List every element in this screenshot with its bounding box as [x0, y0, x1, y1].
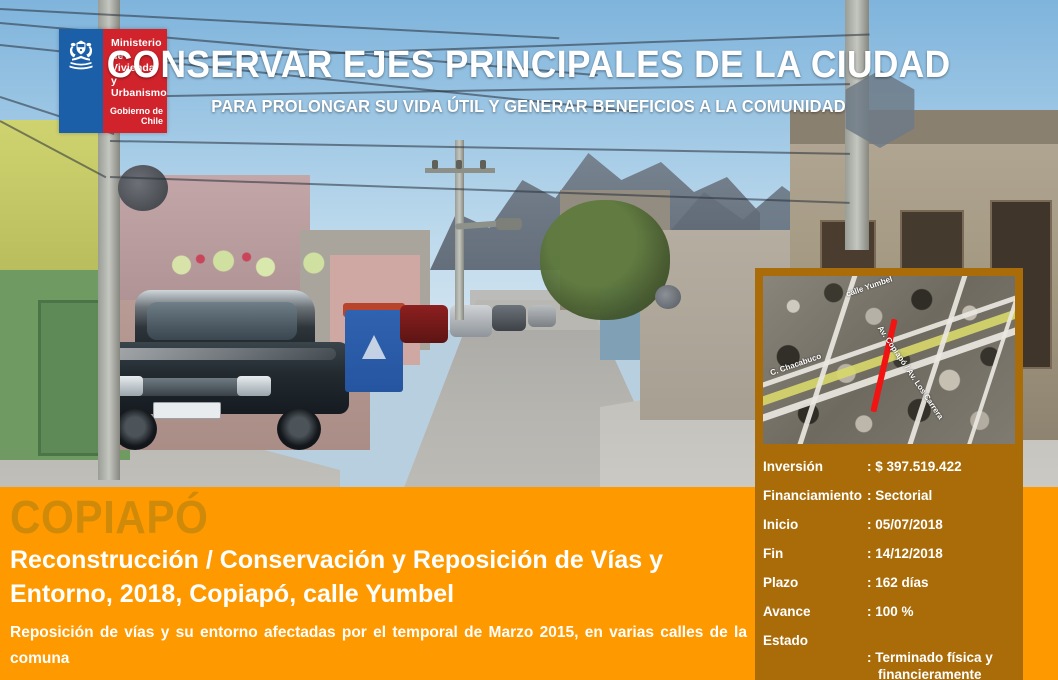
- detail-label-inicio: Inicio: [763, 516, 867, 533]
- detail-row: Estado : Terminado física y financierame…: [763, 632, 1015, 680]
- detail-label-fin: Fin: [763, 545, 867, 562]
- detail-label-plazo: Plazo: [763, 574, 867, 591]
- detail-value-inicio: : 05/07/2018: [867, 516, 1015, 533]
- bougainvillea-hedge: [150, 245, 360, 285]
- detail-row: Fin : 14/12/2018: [763, 545, 1015, 562]
- insulator-2: [456, 160, 462, 169]
- band-right-extension: [1023, 487, 1058, 680]
- detail-value-avance: : 100 %: [867, 603, 1015, 620]
- page-title-text: CONSERVAR EJES PRINCIPALES DE LA CIUDAD: [107, 44, 951, 86]
- truck-headlight-right: [237, 376, 271, 396]
- tree: [540, 200, 670, 320]
- detail-value-estado-line1: : Terminado física y: [867, 650, 993, 665]
- details-list: Inversión : $ 397.519.422 Financiamiento…: [763, 458, 1015, 680]
- project-description: Reposición de vías y su entorno afectada…: [10, 620, 747, 672]
- detail-value-fin: : 14/12/2018: [867, 545, 1015, 562]
- detail-label-inversion: Inversión: [763, 458, 867, 475]
- detail-value-inversion: : $ 397.519.422: [867, 458, 1015, 475]
- project-title: Reconstrucción / Conservación y Reposici…: [10, 543, 740, 611]
- pedestrian: [0, 268, 26, 388]
- parked-car-3: [492, 305, 526, 331]
- parked-car-4: [528, 305, 556, 327]
- detail-value-plazo: : 162 días: [867, 574, 1015, 591]
- poster-root: Ministerio de Vivienda y Urbanismo Gobie…: [0, 0, 1058, 680]
- page-subtitle: PARA PROLONGAR SU VIDA ÚTIL Y GENERAR BE…: [0, 96, 1058, 117]
- detail-label-financiamiento: Financiamiento: [763, 487, 867, 504]
- detail-row: Financiamiento : Sectorial: [763, 487, 1015, 504]
- parked-car-1: [400, 305, 448, 343]
- satellite-dish-small: [655, 285, 681, 309]
- detail-value-estado: : Terminado física y financieramente: [867, 632, 1015, 680]
- insulator-1: [432, 160, 438, 169]
- insulator-3: [480, 160, 486, 169]
- detail-row: Plazo : 162 días: [763, 574, 1015, 591]
- satellite-dish: [118, 165, 168, 211]
- location-map[interactable]: C. Chacabuco Av. Copiapó / Av. Los Carre…: [763, 276, 1015, 444]
- street-lamp-head: [496, 218, 522, 230]
- truck-wheel-rear: [277, 408, 321, 450]
- city-name: COPIAPÓ: [10, 492, 226, 542]
- detail-value-estado-line2: financieramente: [867, 666, 1015, 680]
- detail-row: Inversión : $ 397.519.422: [763, 458, 1015, 475]
- truck-highlight: [111, 348, 336, 360]
- detail-value-financiamiento: : Sectorial: [867, 487, 1015, 504]
- detail-label-estado: Estado: [763, 632, 867, 649]
- city-name-text: COPIAPÓ: [10, 492, 208, 542]
- page-title: CONSERVAR EJES PRINCIPALES DE LA CIUDAD: [0, 44, 1058, 86]
- detail-row: Avance : 100 %: [763, 603, 1015, 620]
- pickup-truck: [95, 290, 355, 455]
- truck-windshield: [147, 302, 297, 340]
- detail-label-avance: Avance: [763, 603, 867, 620]
- detail-row: Inicio : 05/07/2018: [763, 516, 1015, 533]
- page-subtitle-text: PARA PROLONGAR SU VIDA ÚTIL Y GENERAR BE…: [212, 96, 847, 117]
- truck-license-plate: [153, 402, 221, 419]
